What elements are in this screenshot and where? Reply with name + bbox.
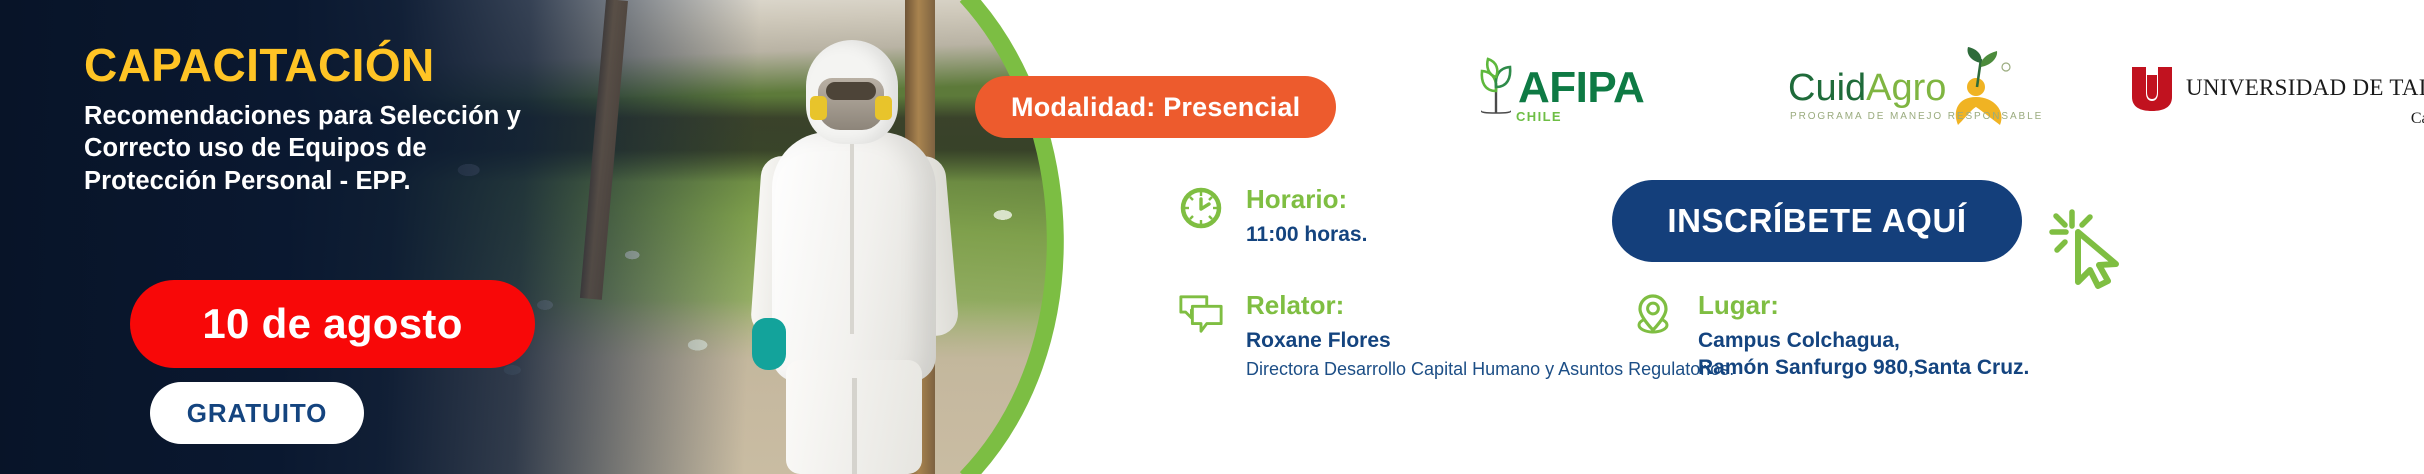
lugar-label: Lugar: xyxy=(1698,290,2029,321)
logo-universidad-de-talca: UNIVERSIDAD DE TALCA CHILE Campus Colcha… xyxy=(2128,42,2424,134)
afipa-wordmark: AFIPA xyxy=(1518,66,1644,110)
horario-label: Horario: xyxy=(1246,184,1367,215)
info-horario: Horario: 11:00 horas. xyxy=(1178,184,1367,248)
utalca-shield-icon xyxy=(2128,63,2176,113)
location-pin-icon xyxy=(1630,290,1676,342)
horario-value: 11:00 horas. xyxy=(1246,221,1367,248)
cuidagro-word-agro: Agro xyxy=(1866,67,1946,109)
cuidagro-tagline: PROGRAMA DE MANEJO RESPONSABLE xyxy=(1790,111,2043,122)
afipa-chile-label: CHILE xyxy=(1516,109,1562,124)
modality-badge: Modalidad: Presencial xyxy=(975,76,1336,138)
utalca-wordmark: UNIVERSIDAD DE TALCA CHILE xyxy=(2186,75,2424,101)
afipa-plant-icon xyxy=(1478,57,1518,119)
page-subtitle: Recomendaciones para Selección y Correct… xyxy=(84,100,554,197)
inscribete-aqui-button[interactable]: INSCRÍBETE AQUÍ xyxy=(1612,180,2022,262)
logo-afipa: AFIPA CHILE xyxy=(1478,42,1644,134)
info-lugar: Lugar: Campus Colchagua, Ramón Sanfurgo … xyxy=(1630,290,2029,382)
lugar-line-1: Campus Colchagua, xyxy=(1698,327,2029,354)
lugar-line-2: Ramón Sanfurgo 980,Santa Cruz. xyxy=(1698,354,2029,381)
cuidagro-word-cuid: Cuid xyxy=(1788,67,1866,109)
capacitacion-banner: CAPACITACIÓN Recomendaciones para Selecc… xyxy=(0,0,2424,474)
page-title: CAPACITACIÓN xyxy=(84,42,435,88)
respirator-filter-right xyxy=(875,96,892,120)
safety-goggles-icon xyxy=(826,82,876,100)
clock-icon xyxy=(1178,184,1224,236)
free-badge: GRATUITO xyxy=(150,382,364,444)
speech-bubbles-icon xyxy=(1178,290,1224,342)
respirator-filter-left xyxy=(810,96,827,120)
worker-coverall-body xyxy=(772,132,936,382)
partner-logos: AFIPA CHILE CuidAgro PROGRAMA DE MANEJO … xyxy=(1478,42,2398,134)
click-cursor-icon xyxy=(2038,198,2134,294)
utalca-campus-label: Campus Colchagua xyxy=(2411,110,2424,128)
worker-legs-split xyxy=(852,378,857,474)
worker-coverall-zipper xyxy=(850,144,854,334)
date-badge: 10 de agosto xyxy=(130,280,535,368)
logo-cuidagro: CuidAgro PROGRAMA DE MANEJO RESPONSABLE xyxy=(1788,42,2014,134)
